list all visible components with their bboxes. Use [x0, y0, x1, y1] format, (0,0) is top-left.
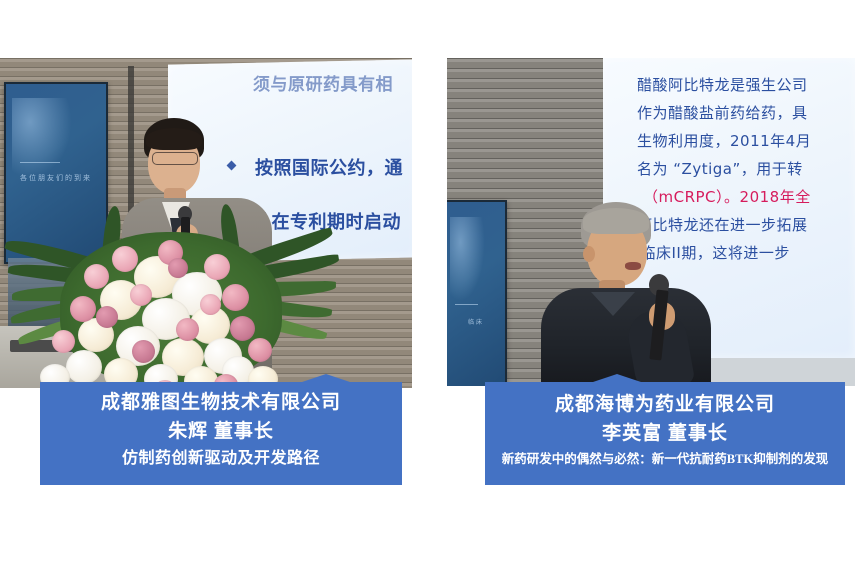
caption-person-left: 朱辉 董事长	[168, 422, 274, 442]
speaker-ear-right	[583, 246, 595, 262]
slide-line-left-1: 须与原研药具有相	[253, 70, 393, 95]
speaker-glasses-left	[152, 152, 198, 165]
speaker-mouth-right	[625, 262, 641, 270]
caption-person-right: 李英富 董事长	[602, 424, 728, 444]
monitor-divider	[20, 162, 60, 163]
caption-topic-right: 新药研发中的偶然与必然：新一代抗耐药BTK抑制剂的发现	[502, 453, 828, 466]
slide-line-right-1: 醋酸阿比特龙是强生公司	[637, 74, 808, 95]
slide-line-right-2: 作为醋酸盐前药给药，具	[637, 102, 808, 123]
speaker-hair-top-right	[583, 208, 649, 234]
monitor-glow	[12, 98, 72, 178]
monitor-caption-text: 各位朋友们的到来	[16, 173, 96, 183]
monitor-glow	[450, 217, 485, 301]
monitor-caption-text: 临床	[453, 317, 499, 326]
caption-card-right: 成都海博为药业有限公司 李英富 董事长 新药研发中的偶然与必然：新一代抗耐药BT…	[485, 374, 845, 485]
caption-topic-left: 仿制药创新驱动及开发路径	[122, 451, 320, 468]
flower-arrangement-left	[8, 198, 338, 388]
monitor-divider	[455, 304, 478, 305]
speaker-photo-right: 醋酸阿比特龙是强生公司 作为醋酸盐前药给药，具 生物利用度，2011年4月 名为…	[447, 58, 855, 386]
slide-line-right-3: 生物利用度，2011年4月	[637, 130, 811, 151]
slide-line-right-4: 名为 “Zytiga”，用于转	[637, 158, 803, 179]
speaker-figure-right	[545, 206, 735, 386]
page-root: 须与原研药具有相 按照国际公约，通 处在专利期时启动 各位朋友们的到来	[0, 0, 855, 568]
caption-card-left: 成都雅图生物技术有限公司 朱辉 董事长 仿制药创新驱动及开发路径	[40, 374, 402, 485]
slide-line-right-5: （mCRPC）。2018年全	[643, 186, 811, 207]
speaker-photo-left: 须与原研药具有相 按照国际公约，通 处在专利期时启动 各位朋友们的到来	[0, 58, 412, 388]
side-monitor-right: 临床	[447, 200, 507, 386]
slide-line-right-2-text: 作为醋酸盐前药给药，具	[637, 104, 808, 122]
speaker-fringe-left	[146, 128, 202, 150]
caption-company-right: 成都海博为药业有限公司	[555, 395, 775, 415]
caption-company-left: 成都雅图生物技术有限公司	[101, 393, 341, 413]
